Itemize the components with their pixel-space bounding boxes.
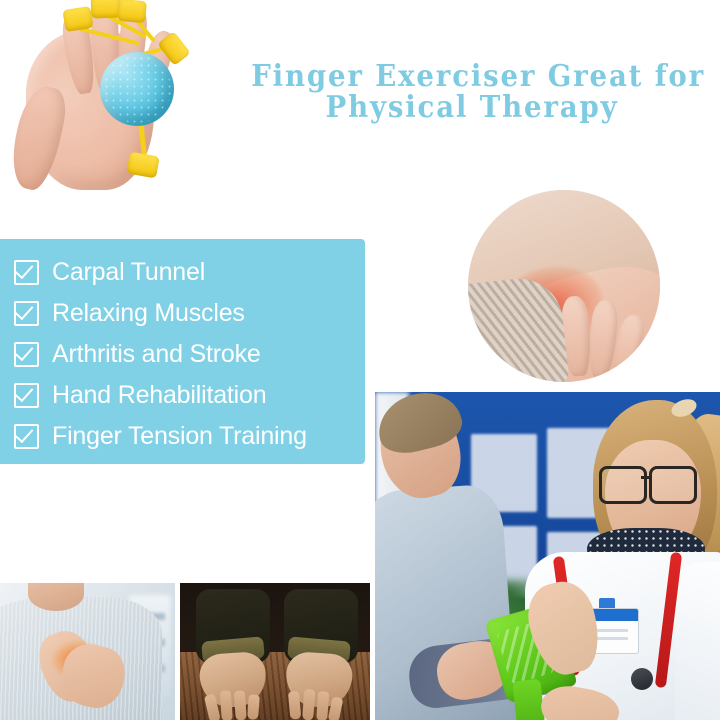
elderly-hand (198, 651, 268, 709)
finger-strap (62, 6, 93, 32)
exercise-ball (100, 52, 174, 126)
checked-box-icon (14, 301, 39, 326)
stethoscope-bell (631, 668, 653, 690)
benefit-label: Hand Rehabilitation (52, 381, 266, 410)
benefit-item: Carpal Tunnel (0, 252, 365, 293)
doctor-lab-coat (675, 562, 720, 720)
product-photo-finger-exerciser: Hand using finger exerciser with blue te… (8, 0, 240, 200)
benefit-label: Finger Tension Training (52, 422, 307, 451)
checked-box-icon (14, 342, 39, 367)
benefits-panel: Carpal Tunnel Relaxing Muscles Arthritis… (0, 239, 365, 464)
photo-hand-pain: Woman in grey sweater holding her hand w… (0, 583, 175, 720)
checked-box-icon (14, 260, 39, 285)
green-hand-splint (512, 679, 545, 720)
checked-box-icon (14, 383, 39, 408)
finger-strap (117, 0, 147, 23)
photo-wrist-pain-circle: Close-up of hands with inflamed red wris… (468, 190, 660, 382)
benefit-item: Arthritis and Stroke (0, 334, 365, 375)
page-title: Finger Exerciser Great for Physical Ther… (232, 62, 712, 123)
photo-therapy-session: Female doctor in white coat with glasses… (375, 392, 720, 720)
page-title-line-2: Physical Therapy (251, 93, 693, 124)
benefit-item: Finger Tension Training (0, 416, 365, 457)
finger-strap (91, 0, 121, 18)
glasses-icon (599, 466, 703, 500)
benefit-label: Carpal Tunnel (52, 258, 205, 287)
checked-box-icon (14, 424, 39, 449)
benefit-label: Relaxing Muscles (52, 299, 245, 328)
product-marketing-image: Finger Exerciser Great for Physical Ther… (0, 0, 720, 720)
benefit-item: Hand Rehabilitation (0, 375, 365, 416)
benefit-item: Relaxing Muscles (0, 293, 365, 334)
photo-elderly-hands: Elderly person's aged hands resting on a… (180, 583, 370, 720)
page-title-line-1: Finger Exerciser Great for (251, 62, 693, 93)
benefit-label: Arthritis and Stroke (52, 340, 261, 369)
